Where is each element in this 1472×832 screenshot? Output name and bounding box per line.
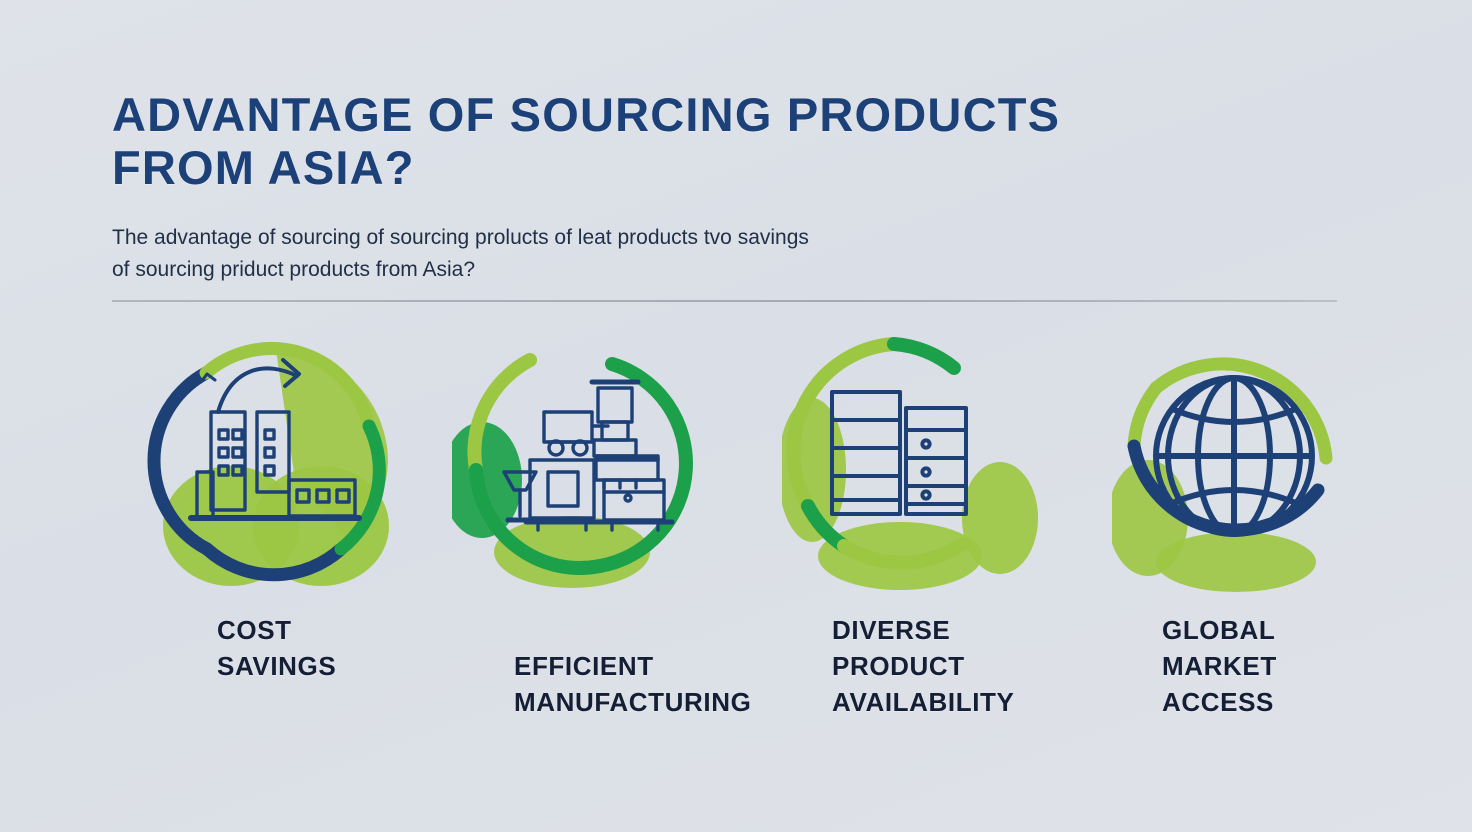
page-subtitle-line-2: of sourcing priduct products from Asia? bbox=[112, 254, 952, 286]
advantage-card-efficient-manufacturing[interactable]: EFFICIENT MANUFACTURING bbox=[452, 330, 782, 750]
efficient-manufacturing-icon-wrap bbox=[452, 330, 714, 592]
label-line-2: MANUFACTURING bbox=[514, 684, 814, 720]
global-market-icon-wrap bbox=[1112, 330, 1374, 592]
label-line-2: PRODUCT bbox=[832, 648, 1132, 684]
shelving-glyph bbox=[832, 392, 966, 514]
advantage-label-global-market-access: GLOBAL MARKET ACCESS bbox=[1162, 612, 1462, 720]
advantage-card-global-market-access[interactable]: GLOBAL MARKET ACCESS bbox=[1112, 330, 1442, 750]
advantage-label-efficient-manufacturing: EFFICIENT MANUFACTURING bbox=[514, 648, 814, 720]
label-line-3: AVAILABILITY bbox=[832, 684, 1132, 720]
slide-canvas: ADVANTAGE OF SOURCING PRODUCTSFROM ASIA?… bbox=[0, 0, 1472, 832]
label-line-3: ACCESS bbox=[1162, 684, 1462, 720]
advantage-label-diverse-product-availability: DIVERSE PRODUCT AVAILABILITY bbox=[832, 612, 1132, 720]
page-title-line-2: FROM ASIA? bbox=[112, 141, 1342, 194]
machinery-glyph bbox=[504, 382, 672, 530]
advantages-row: COST SAVINGS bbox=[0, 330, 1472, 760]
label-line-2: MARKET bbox=[1162, 648, 1462, 684]
label-line-1: EFFICIENT bbox=[514, 648, 814, 684]
page-title: ADVANTAGE OF SOURCING PRODUCTSFROM ASIA? bbox=[112, 88, 1342, 194]
page-subtitle-line-1: The advantage of sourcing of sourcing pr… bbox=[112, 222, 952, 254]
label-line-1: DIVERSE bbox=[832, 612, 1132, 648]
header-block: ADVANTAGE OF SOURCING PRODUCTSFROM ASIA? bbox=[112, 88, 1342, 194]
advantage-card-diverse-product-availability[interactable]: DIVERSE PRODUCT AVAILABILITY bbox=[782, 330, 1112, 750]
cost-savings-icon-wrap bbox=[145, 330, 407, 592]
page-title-line-1: ADVANTAGE OF SOURCING PRODUCTS bbox=[112, 88, 1060, 141]
label-line-1: GLOBAL bbox=[1162, 612, 1462, 648]
diverse-product-icon-wrap bbox=[782, 330, 1044, 592]
advantage-card-cost-savings[interactable]: COST SAVINGS bbox=[145, 330, 475, 750]
globe-glyph bbox=[1156, 378, 1312, 534]
header-divider bbox=[112, 300, 1337, 302]
page-subtitle: The advantage of sourcing of sourcing pr… bbox=[112, 222, 952, 286]
